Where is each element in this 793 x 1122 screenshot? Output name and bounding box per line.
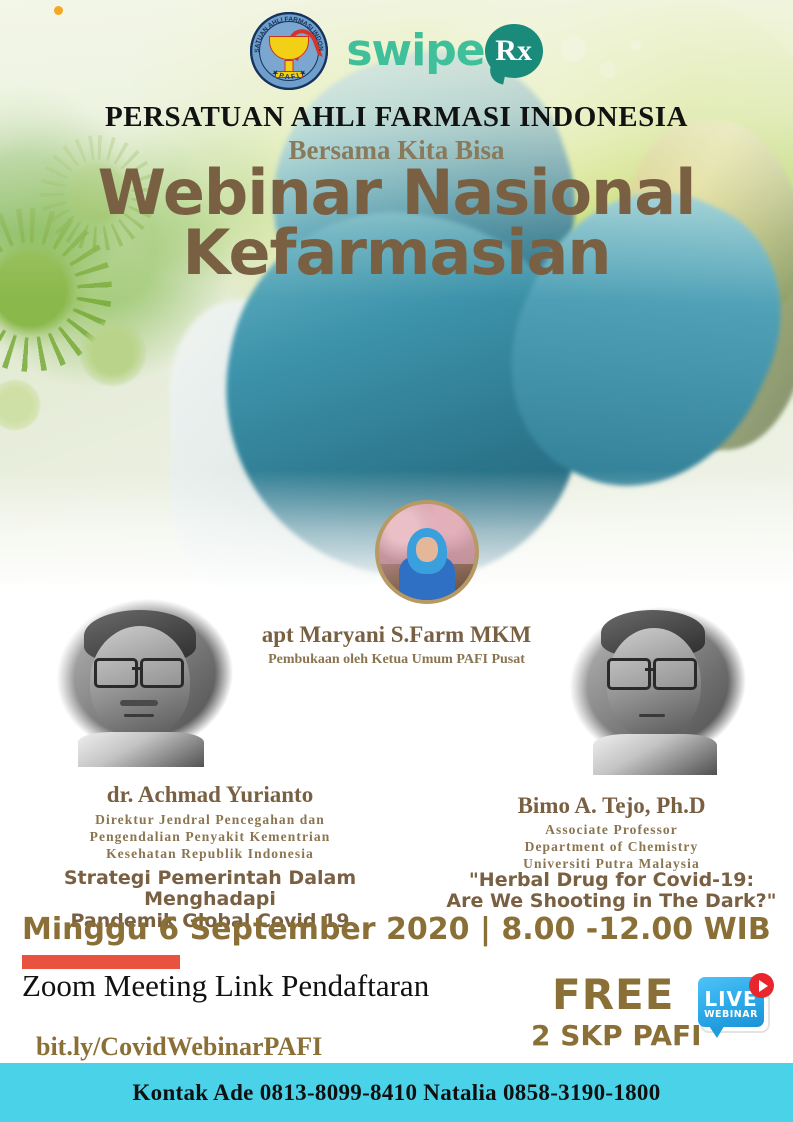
left-portrait-glasses-right bbox=[140, 658, 184, 688]
pafi-ring-top-text: PERSATUAN AHLI FARMASI INDONESIA bbox=[250, 12, 324, 53]
right-portrait-glasses-bridge bbox=[645, 668, 653, 671]
registration-platform-label: Zoom Meeting Link Pendaftaran bbox=[22, 968, 429, 1004]
play-button-icon bbox=[749, 973, 774, 998]
webinar-label: WEBINAR bbox=[698, 1010, 764, 1020]
right-portrait-glasses-right bbox=[653, 658, 697, 690]
page-title: Webinar Nasional Kefarmasian bbox=[0, 163, 793, 282]
right-portrait-mouth bbox=[639, 714, 665, 717]
pafi-ring-bottom-text: ★ P A F I ★ bbox=[271, 68, 309, 82]
schedule-date-time: Minggu 6 September 2020 | 8.00 -12.00 WI… bbox=[22, 912, 771, 947]
logo-row: PERSATUAN AHLI FARMASI INDONESIA ★ P A F… bbox=[0, 8, 793, 94]
right-speaker-topic: "Herbal Drug for Covid-19: Are We Shooti… bbox=[430, 870, 793, 913]
left-portrait-torso bbox=[78, 732, 204, 767]
live-webinar-badge: LIVE WEBINAR bbox=[697, 975, 773, 1041]
left-portrait-mouth bbox=[124, 714, 154, 717]
rx-speech-bubble-icon: Rx bbox=[485, 24, 543, 78]
swiperx-logo: swipe Rx bbox=[346, 24, 542, 78]
pafi-logo-icon: PERSATUAN AHLI FARMASI INDONESIA ★ P A F… bbox=[250, 12, 328, 90]
svg-text:PERSATUAN AHLI FARMASI INDONES: PERSATUAN AHLI FARMASI INDONESIA bbox=[250, 12, 324, 53]
organization-name: PERSATUAN AHLI FARMASI INDONESIA bbox=[0, 101, 793, 134]
free-badge-label: FREE bbox=[552, 970, 674, 1019]
webinar-poster: PERSATUAN AHLI FARMASI INDONESIA ★ P A F… bbox=[0, 0, 793, 1122]
red-accent-bar bbox=[22, 955, 180, 969]
contact-text: Kontak Ade 0813-8099-8410 Natalia 0858-3… bbox=[132, 1080, 660, 1106]
registration-link[interactable]: bit.ly/CovidWebinarPAFI bbox=[36, 1032, 322, 1062]
contact-bar: Kontak Ade 0813-8099-8410 Natalia 0858-3… bbox=[0, 1063, 793, 1122]
right-speaker-name: Bimo A. Tejo, Ph.D bbox=[430, 793, 793, 819]
svg-text:★ P A F I ★: ★ P A F I ★ bbox=[271, 68, 309, 82]
rx-label: Rx bbox=[495, 36, 532, 66]
virus-particle-4 bbox=[0, 380, 40, 430]
left-speaker-name: dr. Achmad Yurianto bbox=[0, 782, 420, 808]
right-portrait-glasses-left bbox=[607, 658, 651, 690]
virus-particle-3 bbox=[80, 320, 146, 386]
swipe-wordmark: swipe bbox=[346, 29, 484, 73]
center-speaker-avatar bbox=[375, 500, 479, 604]
left-portrait-glasses-bridge bbox=[132, 667, 140, 670]
right-speaker-affiliation: Associate Professor Department of Chemis… bbox=[430, 822, 793, 873]
right-speaker-photo bbox=[545, 600, 763, 775]
title-line-2: Kefarmasian bbox=[0, 223, 793, 283]
skp-credit-label: 2 SKP PAFI bbox=[531, 1019, 702, 1052]
avatar-face bbox=[416, 537, 438, 562]
swipe-i-dot-icon bbox=[54, 6, 63, 15]
left-speaker-photo bbox=[32, 592, 250, 767]
right-portrait-torso bbox=[593, 734, 717, 775]
pafi-ring-text: PERSATUAN AHLI FARMASI INDONESIA ★ P A F… bbox=[250, 12, 328, 90]
left-portrait-mustache bbox=[120, 700, 158, 706]
left-portrait-glasses-left bbox=[94, 658, 138, 688]
left-speaker-affiliation: Direktur Jendral Pencegahan dan Pengenda… bbox=[0, 812, 420, 863]
